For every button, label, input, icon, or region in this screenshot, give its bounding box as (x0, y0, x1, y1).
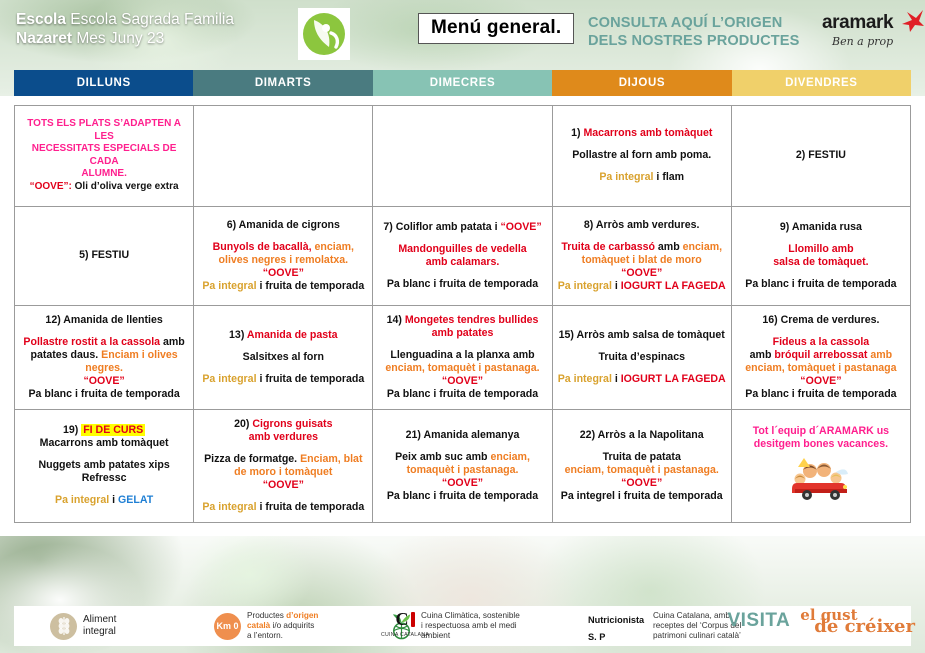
menu-text: Pa integral (55, 494, 109, 506)
menu-general-box: Menú general. (418, 13, 574, 44)
menu-text: Truita de carbassó (561, 241, 658, 253)
menu-line: 12) Amanida de llenties (45, 314, 162, 327)
school-name2-bold: Nazaret (16, 30, 72, 47)
menu-line: Pizza de formatge. Enciam, blat (204, 453, 362, 466)
menu-text: i flam (653, 171, 684, 183)
footer-text: català (247, 621, 270, 630)
menu-text: olives negres i remolatxa. (219, 254, 349, 266)
menu-line: “OOVE” (442, 477, 483, 490)
menu-line: olives negres i remolatxa. (219, 254, 349, 267)
menu-text: 12) Amanida de llenties (45, 314, 162, 326)
school-title: Escola Escola Sagrada Familia Nazaret Me… (16, 10, 316, 48)
menu-line: Nuggets amb patates xips (38, 459, 169, 472)
menu-line: TOTS ELS PLATS S’ADAPTEN A LES (20, 118, 188, 143)
menu-line: negres. (85, 362, 123, 375)
menu-line: “OOVE”: Oli d’oliva verge extra (30, 181, 179, 194)
menu-text: Pa blanc i fruita de temporada (387, 490, 538, 502)
menu-text: amb (870, 349, 892, 361)
menu-line: “OOVE” (83, 375, 124, 388)
nutritionist-label: Nutricionista (588, 612, 644, 629)
footer-text-line: i respectuosa amb el medi (421, 621, 520, 631)
menu-line: 7) Coliflor amb patata i “OOVE” (383, 221, 541, 234)
menu-text: “OOVE”: (30, 181, 72, 192)
menu-text: tomàquet i blat de moro (582, 254, 702, 266)
holiday-wish-cell: Tot l´equip d´ARAMARK usdesitgem bones v… (732, 410, 910, 522)
menu-line: 21) Amanida alemanya (406, 429, 520, 442)
kids-in-car-illustration (790, 457, 852, 506)
menu-text: Pa integral (558, 280, 612, 292)
nutritionist-name: S. P (588, 629, 644, 646)
menu-line: Truita de patata (603, 451, 681, 464)
menu-text: Nuggets amb patates xips (38, 459, 169, 471)
footer-item-wheat: Alimentintegral (14, 606, 200, 646)
menu-cell-dia-2: 2) FESTIU (732, 106, 910, 206)
menu-text: 13) (229, 329, 247, 341)
menu-text: Pa integrel i fruita de temporada (561, 490, 723, 502)
menu-line: ALUMNE. (81, 168, 127, 181)
weekday-header-row: DILLUNSDIMARTSDIMECRESDIJOUSDIVENDRES (14, 70, 911, 96)
menu-text: enciam, tomaquèt i pastanaga. (385, 362, 539, 374)
menu-text: Pizza de formatge. (204, 453, 300, 465)
menu-cell-dia-16: 16) Crema de verdures.Fideus a la cassol… (732, 306, 910, 409)
menu-text: 14) (387, 314, 405, 326)
menu-text: Pa integral (558, 373, 612, 385)
menu-cell-dia-1: 1) Macarrons amb tomàquetPollastre al fo… (553, 106, 732, 206)
footer-item-label: Alimentintegral (83, 614, 116, 639)
menu-text: NECESSITATS ESPECIALS DE CADA (32, 143, 177, 167)
menu-text: bróquil arrebossat (774, 349, 870, 361)
menu-line: amb calamars. (426, 256, 500, 269)
menu-text: enciam, (490, 451, 529, 463)
menu-text: Pa blanc i fruita de temporada (387, 278, 538, 290)
menu-line: amb patates (432, 327, 494, 340)
menu-text: Pollastre rostit a la cassola (23, 336, 163, 348)
day-header-2: DIMARTS (193, 70, 372, 96)
menu-text: 1) (571, 127, 583, 139)
menu-line: tomàquet i blat de moro (582, 254, 702, 267)
day-header-3: DIMECRES (373, 70, 552, 96)
menu-line: “OOVE” (621, 267, 662, 280)
menu-text: tomaquèt i pastanaga. (407, 464, 519, 476)
menu-text: “OOVE” (500, 221, 541, 233)
menu-text: amb patates (432, 327, 494, 339)
menu-line: NECESSITATS ESPECIALS DE CADA (20, 143, 188, 168)
menu-line: Pa integral i fruita de temporada (202, 373, 364, 386)
menu-text: i (109, 494, 118, 506)
menu-text: i fruita de temporada (257, 501, 365, 513)
menu-line: enciam, tomaquèt i pastanaga. (385, 362, 539, 375)
menu-text: Truita d’espinacs (598, 351, 685, 363)
menu-text: i fruita de temporada (257, 373, 365, 385)
menu-line: Pa blanc i fruita de temporada (28, 388, 179, 401)
footer-text-line: Aliment (83, 614, 116, 627)
footer-text: d’origen (286, 611, 318, 620)
menu-text: desitgem bones vacances. (754, 438, 888, 450)
cc-letter: C (396, 609, 409, 629)
menu-text: amb (750, 349, 775, 361)
menu-text: Oli d’oliva verge extra (72, 181, 179, 192)
cuina-catalana-icon: C CUINA CATALANA (377, 609, 433, 638)
menu-text: 19) (63, 424, 81, 436)
menu-text: Mandonguilles de vedella (398, 243, 526, 255)
menu-line: “OOVE” (621, 477, 662, 490)
menu-text: “OOVE” (800, 375, 841, 387)
menu-text: TOTS ELS PLATS S’ADAPTEN A LES (27, 118, 181, 142)
menu-line: 14) Mongetes tendres bullides (387, 314, 539, 327)
menu-line: “OOVE” (263, 267, 304, 280)
menu-text: Pa integral (202, 280, 256, 292)
menu-cell-dia-13: 13) Amanida de pastaSalsitxes al fornPa … (194, 306, 373, 409)
menu-line: Salsitxes al forn (243, 351, 324, 364)
menu-line: Pa blanc i fruita de temporada (387, 388, 538, 401)
menu-week-row: 12) Amanida de llentiesPollastre rostit … (15, 306, 910, 410)
menu-line: Pa integral i fruita de temporada (202, 280, 364, 293)
consulta-origin-text: CONSULTA AQUÍ L’ORIGEN DELS NOSTRES PROD… (588, 14, 818, 50)
menu-text: GELAT (118, 494, 153, 506)
menu-cell-dia-15: 15) Arròs amb salsa de tomàquetTruita d’… (553, 306, 732, 409)
menu-cell-dia-8: 8) Arròs amb verdures.Truita de carbassó… (553, 207, 732, 306)
footer-text-line: Productes d’origen (247, 611, 318, 621)
menu-cell-dia-21: 21) Amanida alemanyaPeix amb suc amb enc… (373, 410, 552, 522)
day-header-1: DILLUNS (14, 70, 193, 96)
day-header-5: DIVENDRES (732, 70, 911, 96)
menu-line: salsa de tomàquet. (773, 256, 868, 269)
menu-week-row: 19) FI DE CURSMacarrons amb tomàquetNugg… (15, 410, 910, 522)
menu-cell-dia-14: 14) Mongetes tendres bullidesamb patates… (373, 306, 552, 409)
menu-text: Pa blanc i fruita de temporada (387, 388, 538, 400)
menu-text: Cigrons guisats (252, 418, 332, 430)
menu-line: 16) Crema de verdures. (762, 314, 879, 327)
menu-cell-dia-12: 12) Amanida de llentiesPollastre rostit … (15, 306, 194, 409)
menu-line: Fideus a la cassola (773, 336, 870, 349)
menu-text: 9) Amanida rusa (780, 221, 862, 233)
menu-line: Pollastre al forn amb poma. (572, 149, 711, 162)
menu-text: patates daus. (31, 349, 102, 361)
menu-line: enciam, tomàquet i pastanaga (745, 362, 896, 375)
menu-line: Tot l´equip d´ARAMARK us (753, 425, 889, 438)
menu-line: Pa integral i flam (599, 171, 684, 184)
menu-text: “OOVE” (263, 479, 304, 491)
menu-line: 8) Arròs amb verdures. (584, 219, 700, 232)
empty-cell (373, 106, 552, 206)
menu-line: Llomillo amb (788, 243, 853, 256)
menu-line: Truita d’espinacs (598, 351, 685, 364)
nutritionist-block: Nutricionista S. P (588, 612, 644, 646)
school-name-bold: Escola (16, 11, 66, 28)
aramark-wordmark: aramark (822, 12, 893, 33)
el-gust-de-creixer-logo: el gust de créixer (800, 608, 915, 634)
menu-line: 5) FESTIU (79, 249, 129, 262)
menu-text: 22) Arròs a la Napolitana (580, 429, 704, 441)
notice-cell: TOTS ELS PLATS S’ADAPTEN A LESNECESSITAT… (15, 106, 194, 206)
menu-cell-dia-5: 5) FESTIU (15, 207, 194, 306)
km0-icon: Km 0 (214, 613, 241, 640)
month-label: Mes Juny 23 (76, 30, 164, 47)
menu-text: Tot l´equip d´ARAMARK us (753, 425, 889, 437)
menu-text: enciam, (315, 241, 354, 253)
menu-text: 2) FESTIU (796, 149, 846, 161)
consulta-line1: CONSULTA AQUÍ L’ORIGEN (588, 14, 818, 32)
menu-line: patates daus. Enciam i olives (31, 349, 178, 362)
menu-line: Pa integral i IOGURT LA FAGEDA (558, 280, 726, 293)
menu-line: amb verdures (249, 431, 318, 444)
menu-line: Refressc (82, 472, 127, 485)
menu-text: Enciam, blat (300, 453, 362, 465)
menu-text: Mongetes tendres bullides (405, 314, 539, 326)
menu-text: enciam, (683, 241, 722, 253)
menu-text: enciam, tomaquèt i pastanaga. (565, 464, 719, 476)
empty-cell (194, 106, 373, 206)
aramark-logo: aramark Ben a prop (822, 12, 922, 48)
menu-text: “OOVE” (442, 477, 483, 489)
menu-text: amb verdures (249, 431, 318, 443)
menu-text: i (612, 373, 621, 385)
menu-text: 8) Arròs amb verdures. (584, 219, 700, 231)
menu-text: Macarrons amb tomàquet (40, 437, 169, 449)
menu-text: 16) Crema de verdures. (762, 314, 879, 326)
menu-text: Pollastre al forn amb poma. (572, 149, 711, 161)
menu-text: “OOVE” (263, 267, 304, 279)
menu-cell-dia-6: 6) Amanida de cigronsBunyols de bacallà,… (194, 207, 373, 306)
footer-text: i/o adquirits (270, 621, 314, 630)
menu-line: enciam, tomaquèt i pastanaga. (565, 464, 719, 477)
menu-text: Pa blanc i fruita de temporada (28, 388, 179, 400)
footer-item-label: Productes d’origencatalà i/o adquiritsa … (247, 611, 318, 641)
menu-text: 21) Amanida alemanya (406, 429, 520, 441)
menu-line: Llenguadina a la planxa amb (390, 349, 534, 362)
menu-text: Pa integral (599, 171, 653, 183)
menu-text: “OOVE” (621, 477, 662, 489)
menu-line: 20) Cigrons guisats (234, 418, 332, 431)
menu-text: Amanida de pasta (247, 329, 338, 341)
menu-line: de moro i tomàquet (234, 466, 332, 479)
menu-line: 13) Amanida de pasta (229, 329, 338, 342)
menu-line: Pa integrel i fruita de temporada (561, 490, 723, 503)
menu-text: amb (163, 336, 185, 348)
menu-text: i fruita de temporada (257, 280, 365, 292)
menu-line: Pa integral i GELAT (55, 494, 153, 507)
menu-line: Peix amb suc amb enciam, (395, 451, 530, 464)
menu-line: Truita de carbassó amb enciam, (561, 241, 722, 254)
menu-line: 22) Arròs a la Napolitana (580, 429, 704, 442)
menu-text: Truita de patata (603, 451, 681, 463)
menu-text: FI DE CURS (81, 424, 145, 436)
menu-week-row: 5) FESTIU6) Amanida de cigronsBunyols de… (15, 207, 910, 307)
menu-text: Bunyols de bacallà, (213, 241, 315, 253)
menu-line: Pa blanc i fruita de temporada (387, 278, 538, 291)
page-header: Escola Escola Sagrada Familia Nazaret Me… (0, 0, 925, 68)
menu-line: amb bróquil arrebossat amb (750, 349, 893, 362)
menu-text: 7) Coliflor amb patata i (383, 221, 500, 233)
menu-text: 20) (234, 418, 252, 430)
menu-line: 19) FI DE CURS (63, 424, 145, 437)
menu-text: i (612, 280, 621, 292)
footer-text-line: a l’entorn. (247, 631, 318, 641)
menu-text: de moro i tomàquet (234, 466, 332, 478)
menu-cell-dia-9: 9) Amanida rusaLlomillo ambsalsa de tomà… (732, 207, 910, 306)
footer-item-label: Cuina Climàtica, sosteniblei respectuosa… (421, 611, 520, 641)
wheat-icon (50, 613, 77, 640)
menu-line: Bunyols de bacallà, enciam, (213, 241, 354, 254)
menu-cell-dia-20: 20) Cigrons guisatsamb verduresPizza de … (194, 410, 373, 522)
menu-cell-dia-22: 22) Arròs a la NapolitanaTruita de patat… (553, 410, 732, 522)
menu-text: Enciam i olives (101, 349, 178, 361)
menu-line: “OOVE” (263, 479, 304, 492)
menu-text: Pa integral (202, 501, 256, 513)
menu-text: “OOVE” (83, 375, 124, 387)
day-header-4: DIJOUS (552, 70, 731, 96)
menu-line: 9) Amanida rusa (780, 221, 862, 234)
menu-line: Pa blanc i fruita de temporada (387, 490, 538, 503)
menu-text: negres. (85, 362, 123, 374)
menu-text: ALUMNE. (81, 168, 127, 179)
menu-line: Pa blanc i fruita de temporada (745, 278, 896, 291)
menu-text: Fideus a la cassola (773, 336, 870, 348)
menu-text: Llomillo amb (788, 243, 853, 255)
menu-text: “OOVE” (442, 375, 483, 387)
aramark-star-icon (898, 10, 924, 37)
menu-line: Pa integral i IOGURT LA FAGEDA (558, 373, 726, 386)
menu-line: 2) FESTIU (796, 149, 846, 162)
menu-line: “OOVE” (800, 375, 841, 388)
footer-text-line: Cuina Climàtica, sostenible (421, 611, 520, 621)
footer-text-line: català i/o adquirits (247, 621, 318, 631)
menu-text: enciam, tomàquet i pastanaga (745, 362, 896, 374)
menu-text: Macarrons amb tomàquet (583, 127, 712, 139)
menu-text: Refressc (82, 472, 127, 484)
cc-caption: CUINA CATALANA (377, 632, 433, 638)
footer-item-km0: Km 0Productes d’origencatalà i/o adquiri… (200, 606, 374, 646)
menu-text: Llenguadina a la planxa amb (390, 349, 534, 361)
footer-text-line: ambient (421, 631, 520, 641)
menu-text: 15) Arròs amb salsa de tomàquet (559, 329, 725, 341)
menu-line: Macarrons amb tomàquet (40, 437, 169, 450)
menu-text: IOGURT LA FAGEDA (621, 373, 726, 385)
menu-line: Mandonguilles de vedella (398, 243, 526, 256)
menu-table: TOTS ELS PLATS S’ADAPTEN A LESNECESSITAT… (14, 105, 911, 523)
menu-text: Peix amb suc amb (395, 451, 490, 463)
footer-text-line: integral (83, 626, 116, 639)
menu-line: Pollastre rostit a la cassola amb (23, 336, 184, 349)
menu-line: tomaquèt i pastanaga. (407, 464, 519, 477)
consulta-line2: DELS NOSTRES PRODUCTES (588, 32, 818, 50)
menu-week-row: TOTS ELS PLATS S’ADAPTEN A LESNECESSITAT… (15, 106, 910, 207)
menu-line: Pa integral i fruita de temporada (202, 501, 364, 514)
menu-text: 5) FESTIU (79, 249, 129, 261)
menu-text: Pa integral (202, 373, 256, 385)
menu-line: 1) Macarrons amb tomàquet (571, 127, 712, 140)
menu-text: amb calamars. (426, 256, 500, 268)
cc-bar-icon (411, 612, 415, 627)
menu-line: Pa blanc i fruita de temporada (745, 388, 896, 401)
menu-text: salsa de tomàquet. (773, 256, 868, 268)
menu-text: IOGURT LA FAGEDA (621, 280, 726, 292)
menu-text: 6) Amanida de cigrons (227, 219, 340, 231)
menu-line: 15) Arròs amb salsa de tomàquet (559, 329, 725, 342)
menu-text: amb (658, 241, 683, 253)
menu-cell-dia-19: 19) FI DE CURSMacarrons amb tomàquetNugg… (15, 410, 194, 522)
school-name-rest: Escola Sagrada Familia (70, 11, 234, 28)
menu-line: 6) Amanida de cigrons (227, 219, 340, 232)
menu-cell-dia-7: 7) Coliflor amb patata i “OOVE”Mandongui… (373, 207, 552, 306)
leaf-person-logo (298, 8, 350, 60)
footer-text: Productes (247, 611, 286, 620)
visita-label: VISITA (727, 610, 790, 632)
menu-line: “OOVE” (442, 375, 483, 388)
menu-line: desitgem bones vacances. (754, 438, 888, 451)
gust-line2: de créixer (814, 620, 915, 634)
visita-block: VISITA el gust de créixer (727, 608, 915, 634)
menu-text: Pa blanc i fruita de temporada (745, 388, 896, 400)
menu-text: Pa blanc i fruita de temporada (745, 278, 896, 290)
menu-text: Salsitxes al forn (243, 351, 324, 363)
menu-text: “OOVE” (621, 267, 662, 279)
